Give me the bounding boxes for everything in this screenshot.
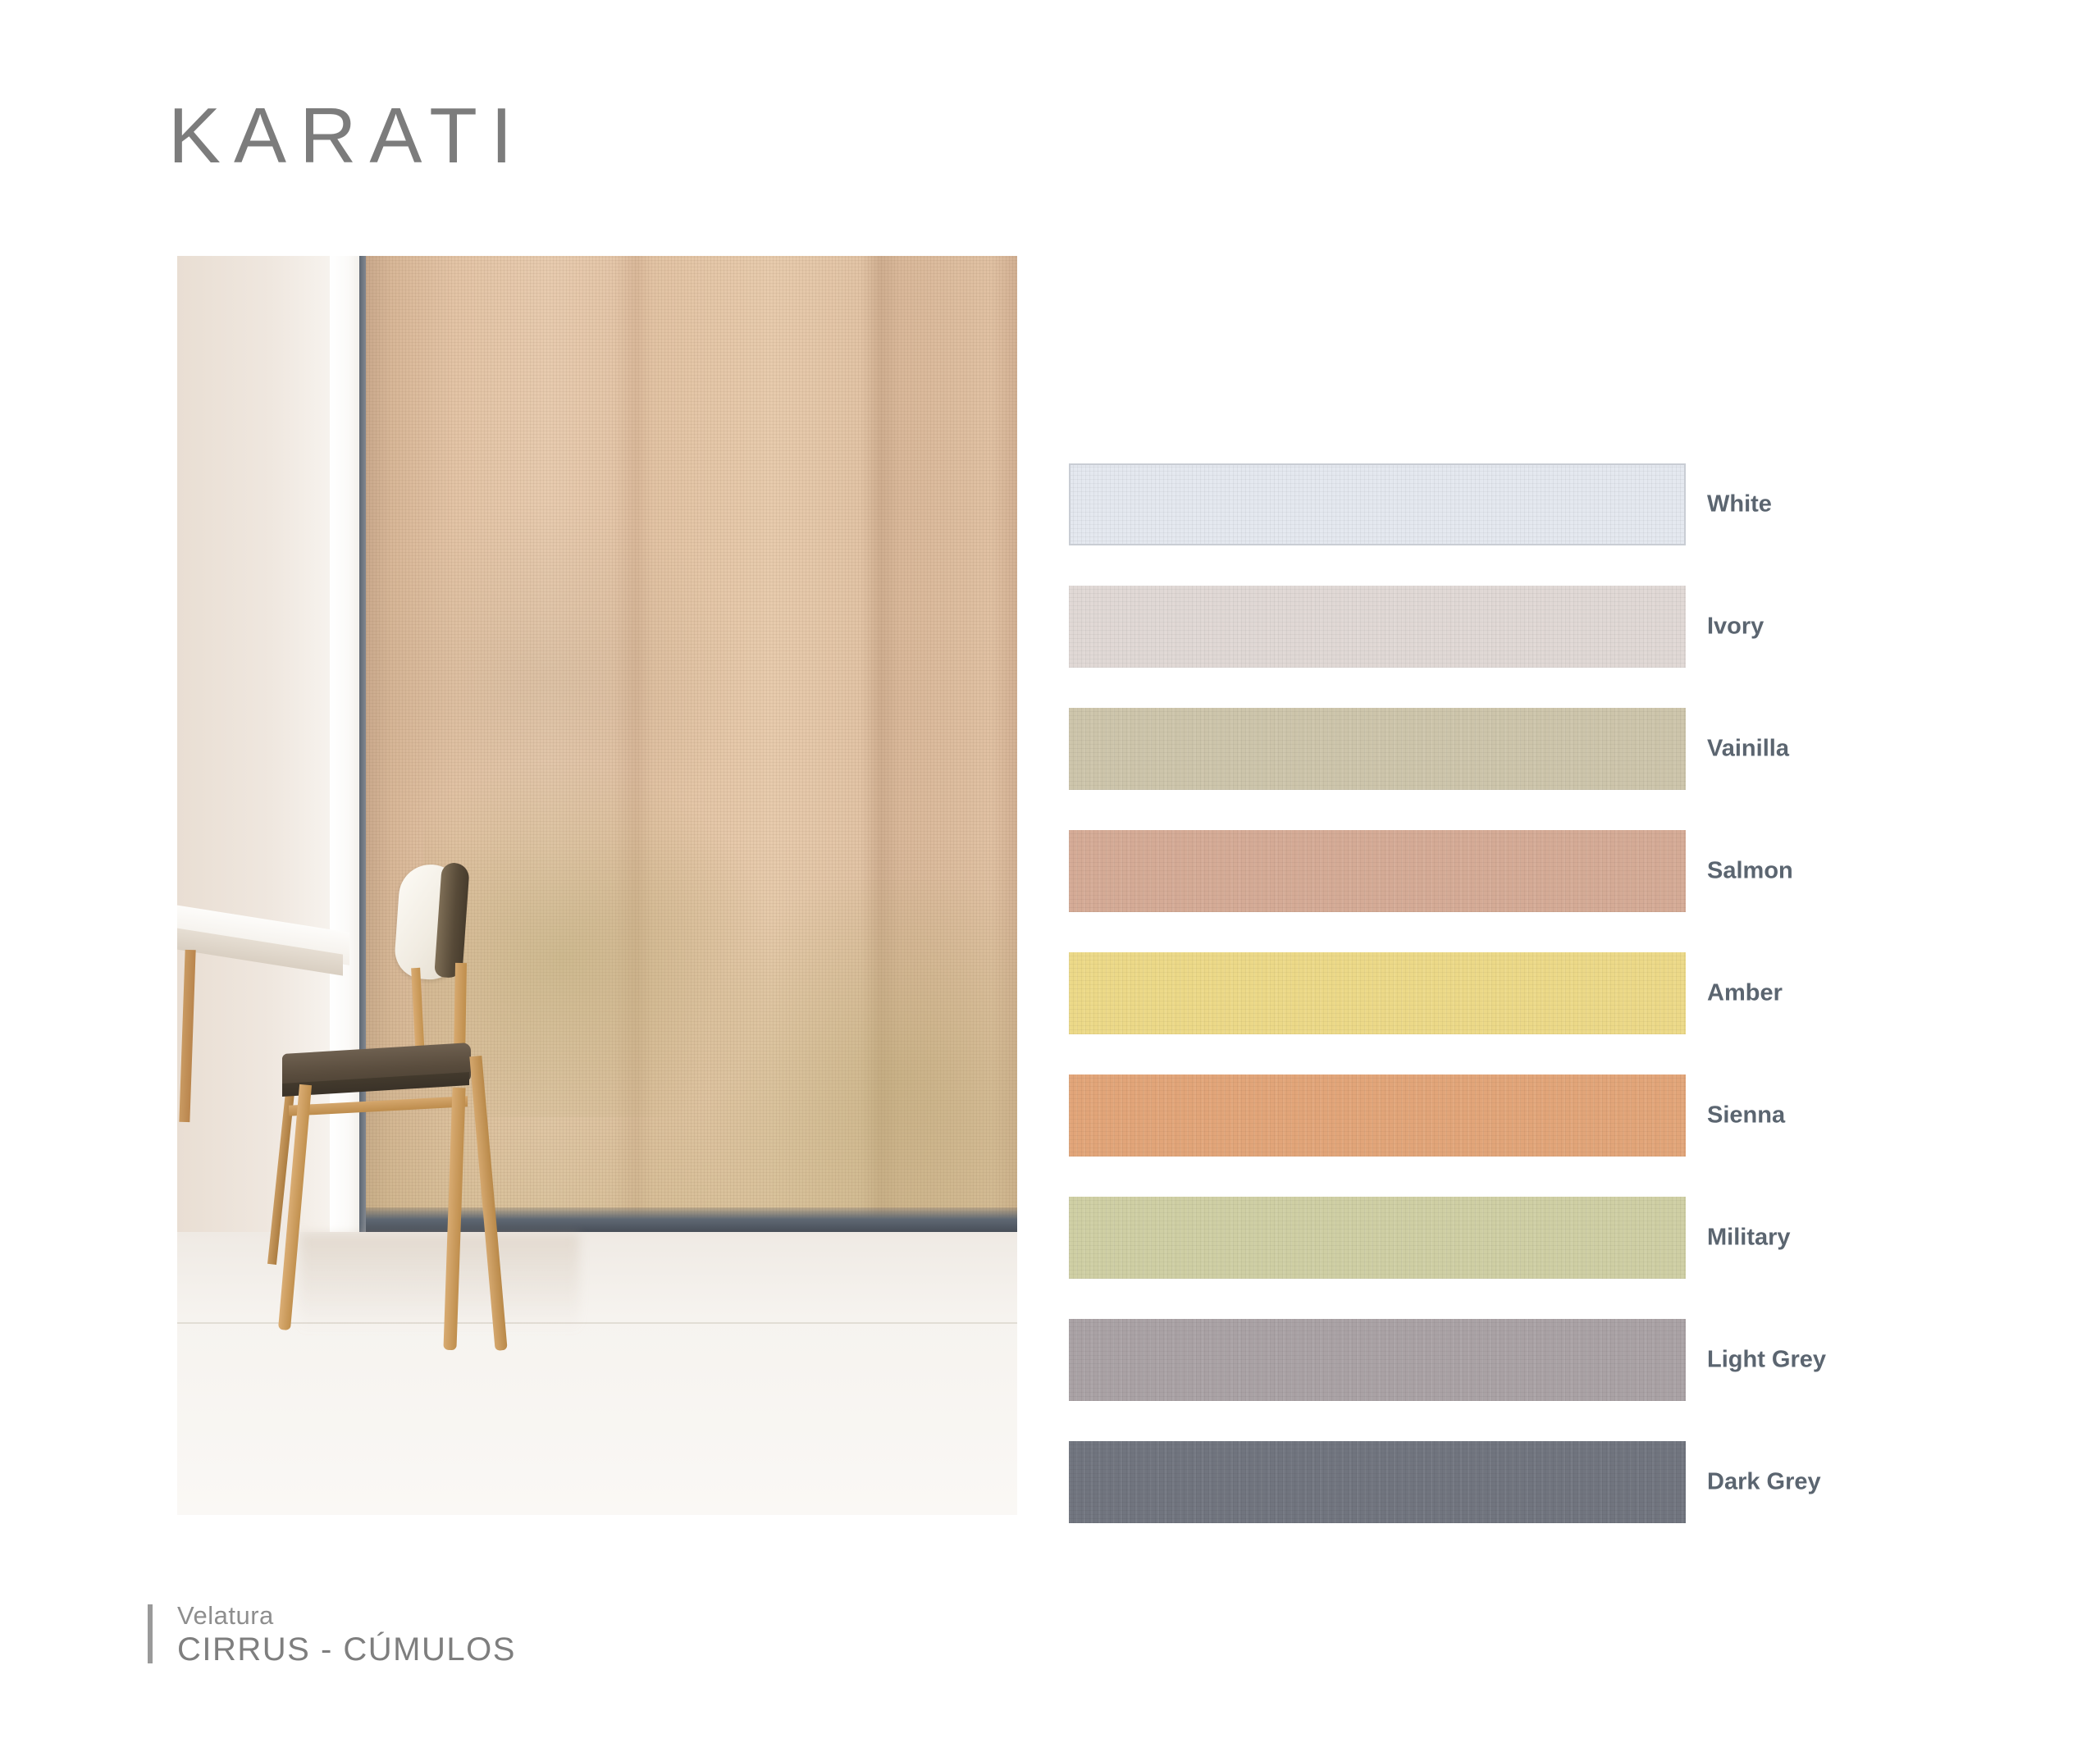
swatch-chip[interactable] — [1069, 830, 1686, 912]
swatch-chip[interactable] — [1069, 463, 1686, 545]
footer-collection-name: Velatura — [177, 1601, 516, 1631]
swatch-label: Ivory — [1707, 614, 1764, 641]
swatch-label: Sienna — [1707, 1102, 1785, 1129]
swatch-label: Vainilla — [1707, 736, 1789, 763]
swatch-chip[interactable] — [1069, 1441, 1686, 1523]
swatch-label: Amber — [1707, 980, 1783, 1007]
page-title: KARATI — [168, 97, 526, 176]
footer-product-name: CIRRUS - CÚMULOS — [177, 1631, 516, 1668]
swatch-label: Salmon — [1707, 858, 1793, 885]
swatch-row: Salmon — [1069, 830, 1938, 912]
blind-bottom-rail — [366, 1207, 1017, 1234]
swatch-row: Light Grey — [1069, 1319, 1938, 1401]
swatch-chip[interactable] — [1069, 1074, 1686, 1157]
footer-text: Velatura CIRRUS - CÚMULOS — [177, 1601, 516, 1668]
swatch-label: Light Grey — [1707, 1347, 1826, 1374]
blind-cloud-right — [710, 879, 1017, 1207]
swatch-row: White — [1069, 463, 1938, 545]
swatch-row: Amber — [1069, 952, 1938, 1034]
swatch-label: Military — [1707, 1225, 1791, 1252]
floor-reflection — [300, 1234, 579, 1332]
floor-seam — [177, 1322, 1017, 1324]
swatch-row: Sienna — [1069, 1074, 1938, 1157]
swatch-label: White — [1707, 491, 1772, 518]
footer-accent-bar — [148, 1604, 153, 1663]
swatch-chip[interactable] — [1069, 1197, 1686, 1279]
swatch-row: Vainilla — [1069, 708, 1938, 790]
swatch-row: Dark Grey — [1069, 1441, 1938, 1523]
swatch-chip[interactable] — [1069, 586, 1686, 668]
swatch-row: Military — [1069, 1197, 1938, 1279]
swatch-chip[interactable] — [1069, 1319, 1686, 1401]
color-swatch-list: WhiteIvoryVainillaSalmonAmberSiennaMilit… — [1069, 463, 1938, 1563]
swatch-row: Ivory — [1069, 586, 1938, 668]
swatch-label: Dark Grey — [1707, 1469, 1821, 1496]
swatch-chip[interactable] — [1069, 708, 1686, 790]
swatch-chip[interactable] — [1069, 952, 1686, 1034]
room-photo — [177, 256, 1017, 1515]
